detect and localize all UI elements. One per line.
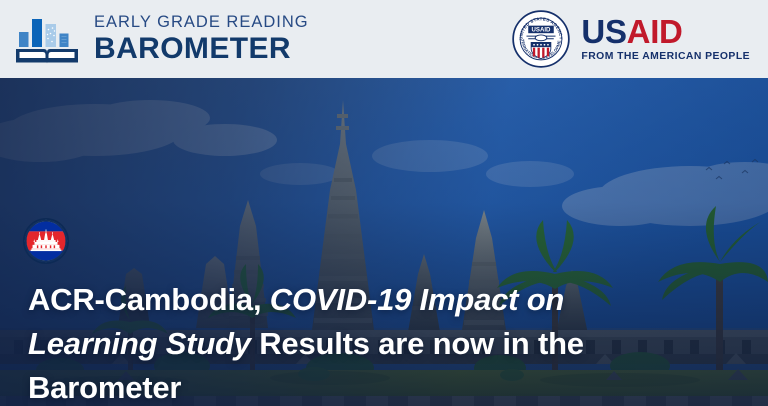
svg-text:USAID: USAID <box>532 26 552 33</box>
hero-headline: ACR-Cambodia, COVID-19 Impact on Learnin… <box>28 278 688 406</box>
usaid-word: USAID <box>581 15 750 48</box>
book-bar-chart-icon <box>14 13 80 65</box>
hero-headline-part-1: ACR-Cambodia, <box>28 282 270 317</box>
usaid-word-aid: AID <box>627 13 683 50</box>
hero-banner: ACR-Cambodia, COVID-19 Impact on Learnin… <box>0 78 768 406</box>
brand-line-2: BAROMETER <box>94 34 309 64</box>
brand-lockup[interactable]: EARLY GRADE READING BAROMETER <box>14 13 309 65</box>
site-header: EARLY GRADE READING BAROMETER UNITED STA… <box>0 0 768 78</box>
brand-line-1: EARLY GRADE READING <box>94 14 309 31</box>
cambodia-flag-badge-icon[interactable] <box>22 217 70 265</box>
page-root: EARLY GRADE READING BAROMETER UNITED STA… <box>0 0 768 406</box>
usaid-tagline: FROM THE AMERICAN PEOPLE <box>581 52 750 62</box>
usaid-word-us: US <box>581 13 626 50</box>
usaid-logo-lockup[interactable]: UNITED STATES AGENCY INTERNATIONAL DEVEL… <box>512 10 750 68</box>
usaid-seal-icon: UNITED STATES AGENCY INTERNATIONAL DEVEL… <box>512 10 570 68</box>
usaid-wordmark: USAID FROM THE AMERICAN PEOPLE <box>581 15 750 62</box>
brand-wordmark: EARLY GRADE READING BAROMETER <box>94 14 309 65</box>
